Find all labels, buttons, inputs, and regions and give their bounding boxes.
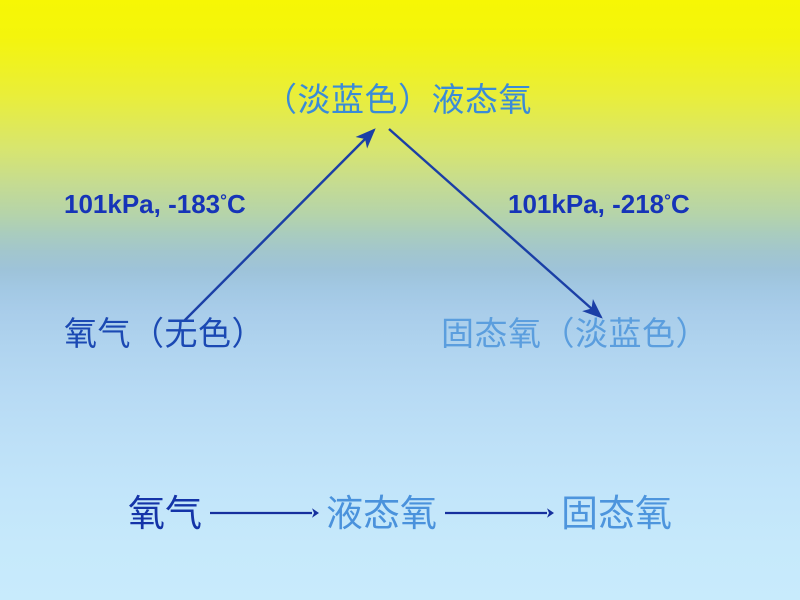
- condition-label-liquefaction: 101kPa, -183°C: [64, 191, 246, 217]
- summary-arrow-icon-1: [208, 505, 320, 521]
- summary-chain: 氧气 液态氧 固态氧: [0, 482, 800, 544]
- degree-sign-icon: °: [220, 191, 227, 210]
- arrow-gas-to-liquid: [184, 130, 374, 321]
- summary-term-liquid-oxygen: 液态氧: [326, 495, 437, 532]
- condition-right-pressure: 101kPa, -218: [508, 189, 664, 219]
- summary-term-solid-oxygen: 固态氧: [561, 495, 672, 532]
- summary-arrow-icon-2: [443, 505, 555, 521]
- degree-sign-icon: °: [664, 191, 671, 210]
- condition-label-solidification: 101kPa, -218°C: [508, 191, 690, 217]
- node-gaseous-oxygen: 氧气（无色）: [64, 317, 265, 350]
- slide-canvas: （淡蓝色）液态氧 101kPa, -183°C 101kPa, -218°C 氧…: [0, 0, 800, 600]
- arrow-liquid-to-solid: [389, 129, 601, 317]
- summary-term-gaseous-oxygen: 氧气: [128, 495, 202, 532]
- condition-left-unit: C: [227, 189, 246, 219]
- condition-right-unit: C: [671, 189, 690, 219]
- condition-left-pressure: 101kPa, -183: [64, 189, 220, 219]
- title-liquid-oxygen: （淡蓝色）液态氧: [264, 83, 532, 116]
- node-solid-oxygen: 固态氧（淡蓝色）: [441, 317, 709, 350]
